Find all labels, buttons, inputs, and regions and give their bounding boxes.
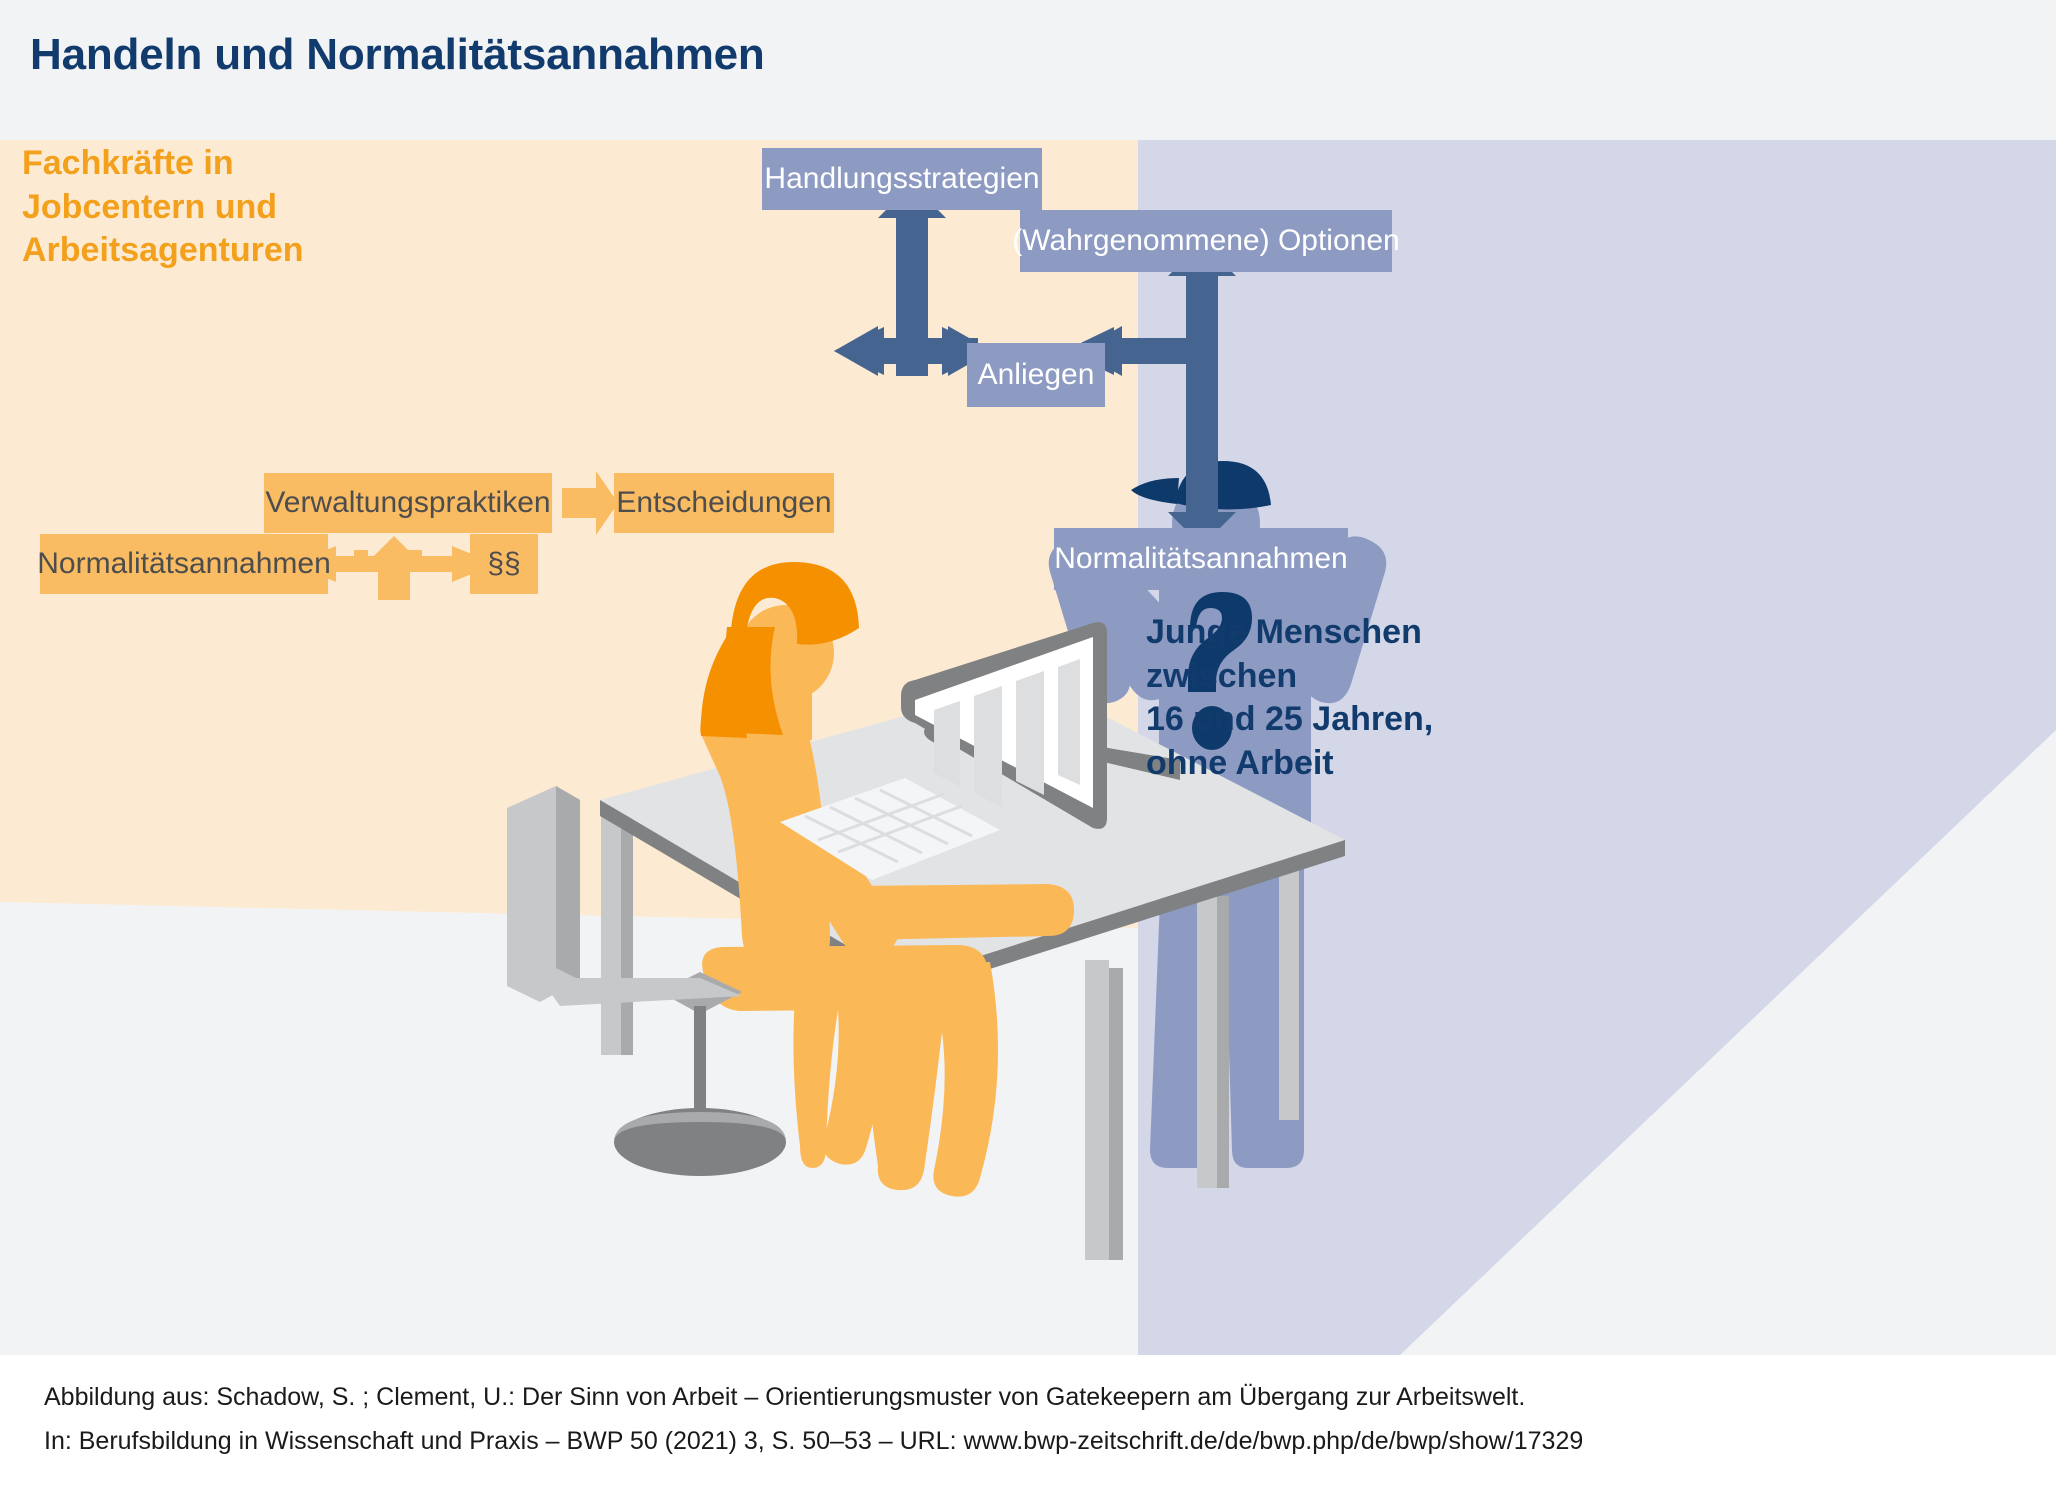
panel-background-orange [0, 140, 1138, 1355]
node-anliegen[interactable]: Anliegen [967, 343, 1105, 407]
node-normalitaetsannahmen-right[interactable]: Normalitätsannahmen [1054, 528, 1348, 590]
infographic-canvas: Handeln und Normalitätsannahmen [0, 0, 2056, 1487]
caption-professionals: Fachkräfte in Jobcentern und Arbeitsagen… [22, 142, 304, 273]
node-paragraphen[interactable]: §§ [470, 534, 538, 594]
citation-line-2: In: Berufsbildung in Wissenschaft und Pr… [44, 1427, 1583, 1456]
diagram-scene: Fachkräfte in Jobcentern und Arbeitsagen… [0, 140, 2056, 1355]
source-citation: Abbildung aus: Schadow, S. ; Clement, U.… [0, 1355, 2056, 1487]
caption-young-people: Junge Menschen zwischen 16 und 25 Jahren… [1146, 611, 1433, 785]
node-wahrgenommene-optionen[interactable]: (Wahrgenommene) Optionen [1020, 210, 1392, 272]
page-title: Handeln und Normalitätsannahmen [30, 30, 765, 80]
node-handlungsstrategien[interactable]: Handlungsstrategien [762, 148, 1042, 210]
node-entscheidungen[interactable]: Entscheidungen [614, 473, 834, 533]
citation-line-1: Abbildung aus: Schadow, S. ; Clement, U.… [44, 1383, 1525, 1412]
node-normalitaetsannahmen-left[interactable]: Normalitätsannahmen [40, 534, 328, 594]
node-verwaltungspraktiken[interactable]: Verwaltungspraktiken [264, 473, 552, 533]
